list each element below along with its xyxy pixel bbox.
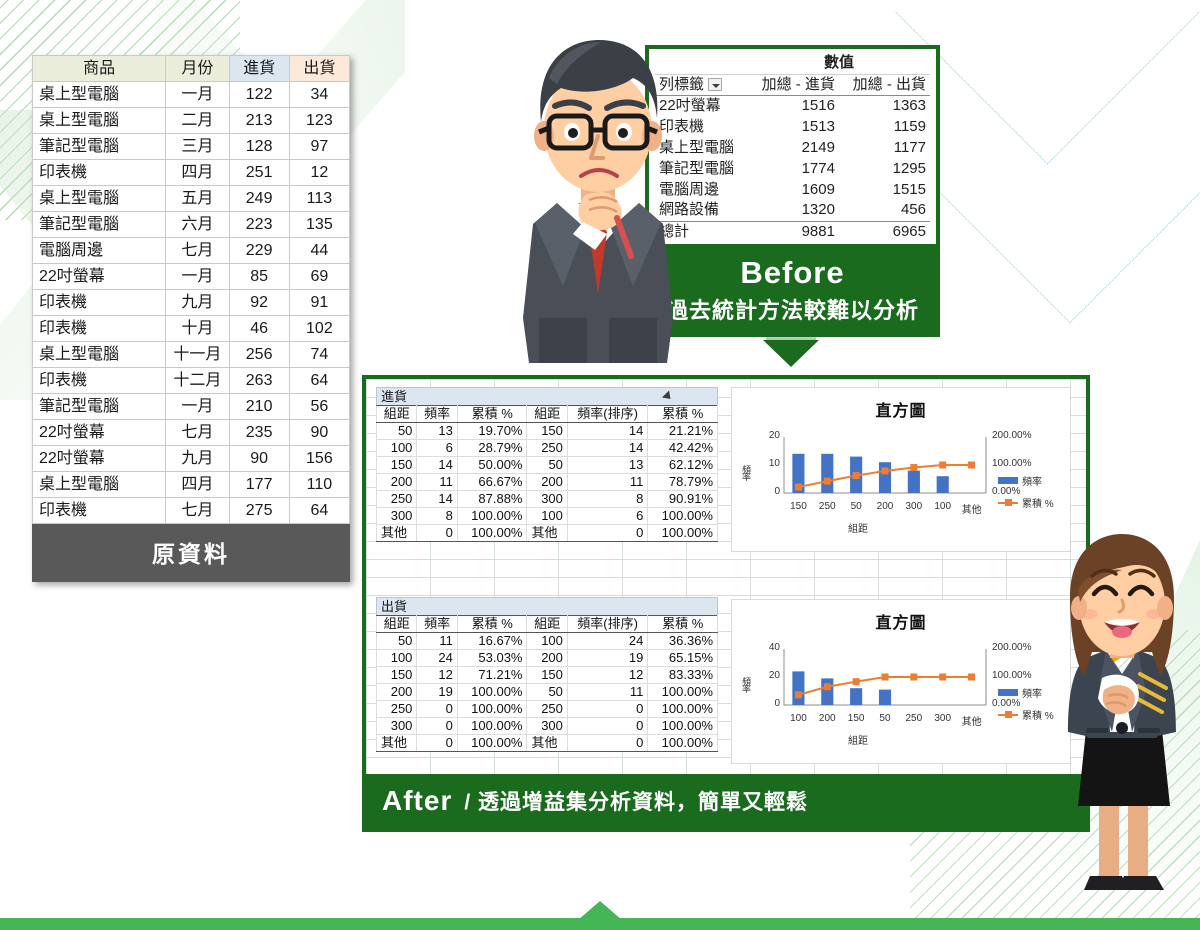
- freq-table-cell: 12: [567, 667, 647, 684]
- raw-cell-outbound: 74: [289, 342, 349, 368]
- before-subtitle: 過去統計方法較難以分析: [649, 293, 936, 325]
- freq-table-cell: 150: [527, 423, 567, 440]
- chart-x-tick: 300: [928, 713, 957, 724]
- raw-cell-outbound: 135: [289, 212, 349, 238]
- chart-title-inbound: 直方圖: [732, 397, 1070, 421]
- chart-x-tick: 250: [899, 713, 928, 724]
- raw-cell-inbound: 46: [229, 316, 289, 342]
- bottom-peak-triangle: [578, 901, 622, 920]
- raw-data-row: 桌上型電腦一月12234: [33, 82, 350, 108]
- freq-table-cell: 13: [567, 457, 647, 474]
- businesswoman-character: [1042, 532, 1200, 914]
- pivot-value-header-row: 數值: [655, 53, 930, 74]
- pivot-total-row: 總計98816965: [655, 221, 930, 242]
- freq-table-cell: 100: [377, 440, 417, 457]
- pivot-total-value: 6965: [839, 221, 930, 242]
- pivot-row: 網路設備1320456: [655, 200, 930, 221]
- raw-cell-product: 桌上型電腦: [33, 108, 166, 134]
- chart-x-tick: 200: [871, 501, 900, 512]
- raw-cell-outbound: 123: [289, 108, 349, 134]
- sort-marker-icon[interactable]: [662, 390, 674, 402]
- freq-header-row-inbound: 組距頻率累積 %組距頻率(排序)累積 %: [377, 406, 718, 423]
- raw-cell-product: 筆記型電腦: [33, 394, 166, 420]
- raw-cell-product: 筆記型電腦: [33, 134, 166, 160]
- freq-table-cell: 200: [377, 684, 417, 701]
- freq-table-cell: 100.00%: [457, 508, 527, 525]
- pivot-cell-value: 1774: [748, 158, 839, 179]
- raw-data-row: 印表機十月46102: [33, 316, 350, 342]
- raw-cell-month: 九月: [166, 446, 229, 472]
- freq-table-title-outbound: 出貨: [376, 597, 718, 615]
- freq-table-outbound: 組距頻率累積 %組距頻率(排序)累積 % 501116.67%1002436.3…: [376, 615, 718, 752]
- pivot-cell-value: 456: [839, 200, 930, 221]
- raw-cell-product: 桌上型電腦: [33, 472, 166, 498]
- after-title: After: [382, 785, 452, 817]
- chart-y-tick-right: 100.00%: [992, 458, 1050, 469]
- raw-data-table: 商品 月份 進貨 出貨 桌上型電腦一月12234桌上型電腦二月213123筆記型…: [32, 55, 350, 524]
- down-arrow-icon: [763, 340, 819, 367]
- raw-cell-product: 印表機: [33, 316, 166, 342]
- chart-line-marker: [795, 691, 802, 698]
- freq-table-cell: 200: [527, 650, 567, 667]
- raw-cell-outbound: 64: [289, 498, 349, 524]
- freq-body-outbound: 501116.67%1002436.36%1002453.03%2001965.…: [377, 633, 718, 752]
- businessman-character: [505, 18, 690, 363]
- pivot-row: 筆記型電腦17741295: [655, 158, 930, 179]
- freq-col-header: 頻率: [417, 406, 457, 423]
- legend-swatch-bar: [998, 689, 1018, 696]
- freq-table-cell: 87.88%: [457, 491, 527, 508]
- raw-cell-inbound: 122: [229, 82, 289, 108]
- pivot-cell-value: 2149: [748, 137, 839, 158]
- pivot-value-header-label: 數值: [824, 54, 854, 71]
- raw-cell-outbound: 110: [289, 472, 349, 498]
- freq-table-title-inbound: 進貨: [376, 387, 718, 405]
- raw-header-inbound: 進貨: [229, 56, 289, 82]
- freq-table-cell: 11: [567, 684, 647, 701]
- freq-table-row: 100628.79%2501442.42%: [377, 440, 718, 457]
- raw-cell-month: 十二月: [166, 368, 229, 394]
- chart-x-tick: 50: [842, 501, 871, 512]
- raw-data-row: 筆記型電腦一月21056: [33, 394, 350, 420]
- freq-col-header: 組距: [377, 406, 417, 423]
- freq-table-cell: 12: [417, 667, 457, 684]
- freq-table-cell: 50: [527, 684, 567, 701]
- chart-bar: [821, 454, 833, 493]
- pivot-cell-value: 1609: [748, 179, 839, 200]
- raw-data-caption: 原資料: [32, 524, 350, 582]
- legend-label-frequency: 頻率: [1022, 473, 1042, 488]
- raw-cell-product: 印表機: [33, 160, 166, 186]
- chart-x-tick: 50: [871, 713, 900, 724]
- freq-col-header: 頻率: [417, 616, 457, 633]
- freq-table-cell: 300: [527, 718, 567, 735]
- freq-col-header: 累積 %: [648, 616, 718, 633]
- raw-cell-inbound: 229: [229, 238, 289, 264]
- raw-data-row: 22吋螢幕九月90156: [33, 446, 350, 472]
- chart-line-marker: [968, 674, 975, 681]
- freq-table-cell: 11: [417, 474, 457, 491]
- freq-table-cell: 其他: [527, 525, 567, 542]
- raw-cell-outbound: 64: [289, 368, 349, 394]
- chart-line-marker: [824, 683, 831, 690]
- pivot-cell-value: 1515: [839, 179, 930, 200]
- histogram-chart-outbound: 直方圖 020400.00%100.00%200.00%頻率1002001505…: [731, 599, 1071, 764]
- legend-label-frequency: 頻率: [1022, 685, 1042, 700]
- freq-table-cell: 21.21%: [648, 423, 718, 440]
- freq-table-row: 3000100.00%3000100.00%: [377, 718, 718, 735]
- freq-table-cell: 150: [377, 667, 417, 684]
- chart-line-marker: [853, 678, 860, 685]
- freq-body-inbound: 501319.70%1501421.21%100628.79%2501442.4…: [377, 423, 718, 542]
- chart-x-tick: 100: [784, 713, 813, 724]
- freq-table-cell: 66.67%: [457, 474, 527, 491]
- raw-cell-month: 七月: [166, 498, 229, 524]
- freq-table-block-outbound: 出貨 組距頻率累積 %組距頻率(排序)累積 % 501116.67%100243…: [376, 597, 718, 752]
- freq-table-cell: 100.00%: [457, 525, 527, 542]
- raw-cell-month: 十一月: [166, 342, 229, 368]
- chart-y-tick-left: 40: [748, 642, 780, 653]
- raw-cell-outbound: 91: [289, 290, 349, 316]
- freq-col-header: 組距: [527, 406, 567, 423]
- freq-table-cell: 100: [377, 650, 417, 667]
- freq-table-cell: 150: [377, 457, 417, 474]
- raw-header-month: 月份: [166, 56, 229, 82]
- freq-table-row: 2501487.88%300890.91%: [377, 491, 718, 508]
- pivot-table: 數值 列標籤 加總 - 進貨 加總 - 出貨 22吋螢幕15161363印表機1…: [655, 53, 930, 242]
- chart-bar: [821, 678, 833, 705]
- legend-swatch-line: [998, 502, 1018, 504]
- freq-table-cell: 65.15%: [648, 650, 718, 667]
- raw-data-row: 印表機九月9291: [33, 290, 350, 316]
- freq-table-row: 20019100.00%5011100.00%: [377, 684, 718, 701]
- raw-cell-outbound: 97: [289, 134, 349, 160]
- freq-table-row: 其他0100.00%其他0100.00%: [377, 735, 718, 752]
- chart-title-outbound: 直方圖: [732, 609, 1070, 633]
- freq-table-cell: 0: [567, 718, 647, 735]
- chart-line-marker: [939, 674, 946, 681]
- raw-cell-inbound: 85: [229, 264, 289, 290]
- freq-table-block-inbound: 進貨 組距頻率累積 %組距頻率(排序)累積 % 501319.70%150142…: [376, 387, 718, 542]
- raw-header-outbound: 出貨: [289, 56, 349, 82]
- pivot-row: 22吋螢幕15161363: [655, 95, 930, 116]
- freq-table-cell: 300: [527, 491, 567, 508]
- freq-table-cell: 90.91%: [648, 491, 718, 508]
- chart-plot-area-outbound: 020400.00%100.00%200.00%頻率10020015050250…: [732, 633, 1070, 751]
- freq-table-cell: 19: [417, 684, 457, 701]
- chart-line-marker: [939, 462, 946, 469]
- freq-table-cell: 50: [527, 457, 567, 474]
- freq-table-cell: 0: [417, 525, 457, 542]
- raw-cell-product: 桌上型電腦: [33, 342, 166, 368]
- freq-table-row: 1002453.03%2001965.15%: [377, 650, 718, 667]
- freq-table-cell: 6: [567, 508, 647, 525]
- freq-table-cell: 50: [377, 633, 417, 650]
- pivot-value-header: 數值: [748, 53, 930, 74]
- chevron-outline-inner: [895, 0, 1199, 165]
- freq-table-cell: 6: [417, 440, 457, 457]
- raw-cell-product: 22吋螢幕: [33, 420, 166, 446]
- raw-cell-month: 六月: [166, 212, 229, 238]
- freq-table-row: 2001166.67%2001178.79%: [377, 474, 718, 491]
- raw-cell-outbound: 113: [289, 186, 349, 212]
- freq-table-cell: 62.12%: [648, 457, 718, 474]
- pivot-cell-value: 1513: [748, 116, 839, 137]
- chart-legend-frequency: 頻率: [998, 473, 1042, 488]
- freq-table-cell: 300: [377, 718, 417, 735]
- raw-cell-outbound: 44: [289, 238, 349, 264]
- freq-col-header: 組距: [527, 616, 567, 633]
- pivot-col-header-outbound: 加總 - 出貨: [839, 74, 930, 95]
- raw-cell-product: 22吋螢幕: [33, 446, 166, 472]
- raw-cell-month: 七月: [166, 238, 229, 264]
- pivot-column-header-row: 列標籤 加總 - 進貨 加總 - 出貨: [655, 74, 930, 95]
- freq-table-cell: 0: [567, 701, 647, 718]
- freq-table-cell: 14: [417, 457, 457, 474]
- freq-table-cell: 14: [417, 491, 457, 508]
- chart-x-axis-title: 組距: [732, 732, 1070, 747]
- freq-table-cell: 42.42%: [648, 440, 718, 457]
- raw-cell-inbound: 213: [229, 108, 289, 134]
- chart-y-tick-right: 200.00%: [992, 430, 1050, 441]
- raw-data-row: 筆記型電腦六月223135: [33, 212, 350, 238]
- freq-table-cell: 150: [527, 667, 567, 684]
- freq-table-row: 1501450.00%501362.12%: [377, 457, 718, 474]
- freq-table-cell: 200: [377, 474, 417, 491]
- raw-cell-outbound: 12: [289, 160, 349, 186]
- chart-y-axis-title: 頻率: [740, 465, 753, 479]
- raw-cell-inbound: 177: [229, 472, 289, 498]
- raw-cell-month: 四月: [166, 160, 229, 186]
- freq-table-row: 其他0100.00%其他0100.00%: [377, 525, 718, 542]
- pivot-cell-value: 1320: [748, 200, 839, 221]
- raw-data-card: 商品 月份 進貨 出貨 桌上型電腦一月12234桌上型電腦二月213123筆記型…: [32, 55, 350, 582]
- freq-table-inbound: 組距頻率累積 %組距頻率(排序)累積 % 501319.70%1501421.2…: [376, 405, 718, 542]
- freq-table-cell: 250: [527, 701, 567, 718]
- pivot-col-header-inbound: 加總 - 進貨: [748, 74, 839, 95]
- chart-y-axis-title: 頻率: [740, 677, 753, 691]
- freq-table-cell: 71.21%: [457, 667, 527, 684]
- freq-table-cell: 50: [377, 423, 417, 440]
- pivot-cell-value: 1363: [839, 95, 930, 116]
- freq-header-row-outbound: 組距頻率累積 %組距頻率(排序)累積 %: [377, 616, 718, 633]
- freq-table-cell: 0: [417, 735, 457, 752]
- chart-line-marker: [882, 674, 889, 681]
- freq-table-cell: 100.00%: [648, 508, 718, 525]
- raw-cell-product: 印表機: [33, 498, 166, 524]
- freq-table-cell: 14: [567, 440, 647, 457]
- chart-x-tick: 其他: [957, 713, 986, 728]
- raw-data-body: 桌上型電腦一月12234桌上型電腦二月213123筆記型電腦三月12897印表機…: [33, 82, 350, 524]
- raw-cell-month: 五月: [166, 186, 229, 212]
- raw-cell-outbound: 56: [289, 394, 349, 420]
- freq-table-title-label-outbound: 出貨: [381, 599, 407, 614]
- pivot-cell-value: 1159: [839, 116, 930, 137]
- after-subtitle: / 透過增益集分析資料，簡單又輕鬆: [464, 786, 808, 816]
- pivot-cell-value: 1295: [839, 158, 930, 179]
- legend-label-cumulative: 累積 %: [1022, 495, 1054, 510]
- raw-cell-inbound: 128: [229, 134, 289, 160]
- freq-table-cell: 0: [417, 718, 457, 735]
- chart-line-marker: [795, 484, 802, 491]
- raw-cell-product: 22吋螢幕: [33, 264, 166, 290]
- freq-table-row: 3008100.00%1006100.00%: [377, 508, 718, 525]
- raw-cell-inbound: 92: [229, 290, 289, 316]
- pivot-row: 印表機15131159: [655, 116, 930, 137]
- raw-cell-month: 三月: [166, 134, 229, 160]
- chart-y-tick-left: 0: [748, 486, 780, 497]
- raw-cell-inbound: 275: [229, 498, 289, 524]
- raw-data-row: 22吋螢幕七月23590: [33, 420, 350, 446]
- freq-table-cell: 28.79%: [457, 440, 527, 457]
- chart-x-axis-title: 組距: [732, 520, 1070, 535]
- raw-cell-month: 二月: [166, 108, 229, 134]
- raw-cell-outbound: 69: [289, 264, 349, 290]
- chart-x-tick: 其他: [957, 501, 986, 516]
- freq-table-row: 2500100.00%2500100.00%: [377, 701, 718, 718]
- raw-cell-month: 一月: [166, 264, 229, 290]
- freq-table-cell: 36.36%: [648, 633, 718, 650]
- chart-y-tick-left: 20: [748, 430, 780, 441]
- chart-plot-area-inbound: 010200.00%100.00%200.00%頻率15025050200300…: [732, 421, 1070, 539]
- raw-cell-outbound: 156: [289, 446, 349, 472]
- chart-x-tick: 300: [899, 501, 928, 512]
- raw-cell-month: 一月: [166, 82, 229, 108]
- chart-bar: [879, 690, 891, 705]
- freq-table-row: 501116.67%1002436.36%: [377, 633, 718, 650]
- freq-col-header: 累積 %: [648, 406, 718, 423]
- raw-data-row: 桌上型電腦四月177110: [33, 472, 350, 498]
- freq-table-cell: 其他: [377, 525, 417, 542]
- freq-table-cell: 11: [567, 474, 647, 491]
- raw-cell-month: 十月: [166, 316, 229, 342]
- freq-col-header: 組距: [377, 616, 417, 633]
- freq-table-cell: 83.33%: [648, 667, 718, 684]
- freq-table-cell: 24: [417, 650, 457, 667]
- freq-table-cell: 100.00%: [648, 684, 718, 701]
- raw-data-row: 電腦周邊七月22944: [33, 238, 350, 264]
- chart-line-marker: [853, 472, 860, 479]
- freq-table-cell: 250: [527, 440, 567, 457]
- raw-cell-product: 電腦周邊: [33, 238, 166, 264]
- chart-x-tick: 200: [813, 713, 842, 724]
- chart-bar: [937, 476, 949, 493]
- chart-bar: [908, 471, 920, 493]
- freq-table-row: 501319.70%1501421.21%: [377, 423, 718, 440]
- raw-cell-outbound: 34: [289, 82, 349, 108]
- freq-table-cell: 13: [417, 423, 457, 440]
- freq-table-cell: 250: [377, 701, 417, 718]
- freq-table-cell: 24: [567, 633, 647, 650]
- chart-line-marker: [882, 467, 889, 474]
- freq-table-cell: 100.00%: [457, 718, 527, 735]
- infographic-page: 商品 月份 進貨 出貨 桌上型電腦一月12234桌上型電腦二月213123筆記型…: [0, 0, 1200, 930]
- freq-table-cell: 100.00%: [648, 735, 718, 752]
- chart-line-marker: [910, 464, 917, 471]
- after-section: 進貨 組距頻率累積 %組距頻率(排序)累積 % 501319.70%150142…: [362, 375, 1090, 832]
- pivot-cell-value: 1516: [748, 95, 839, 116]
- freq-table-cell: 300: [377, 508, 417, 525]
- filter-dropdown-icon[interactable]: [708, 78, 722, 91]
- chart-y-tick-left: 0: [748, 698, 780, 709]
- raw-data-row: 印表機四月25112: [33, 160, 350, 186]
- pivot-row: 桌上型電腦21491177: [655, 137, 930, 158]
- freq-col-header: 累積 %: [457, 616, 527, 633]
- freq-table-title-label-inbound: 進貨: [381, 389, 407, 404]
- raw-cell-outbound: 102: [289, 316, 349, 342]
- raw-data-row: 桌上型電腦二月213123: [33, 108, 350, 134]
- raw-cell-product: 筆記型電腦: [33, 212, 166, 238]
- raw-data-row: 印表機十二月26364: [33, 368, 350, 394]
- raw-cell-inbound: 263: [229, 368, 289, 394]
- chart-line-marker: [824, 478, 831, 485]
- raw-cell-month: 七月: [166, 420, 229, 446]
- after-banner: After / 透過增益集分析資料，簡單又輕鬆: [366, 774, 1086, 828]
- freq-table-cell: 14: [567, 423, 647, 440]
- freq-table-cell: 250: [377, 491, 417, 508]
- freq-table-cell: 100.00%: [457, 684, 527, 701]
- raw-data-row: 22吋螢幕一月8569: [33, 264, 350, 290]
- freq-table-cell: 100.00%: [457, 701, 527, 718]
- pivot-total-row-wrap: 總計98816965: [655, 221, 930, 242]
- chart-line-marker: [910, 674, 917, 681]
- pivot-total-value: 9881: [748, 221, 839, 242]
- before-title: Before: [649, 254, 936, 291]
- freq-table-cell: 200: [527, 474, 567, 491]
- raw-data-row: 印表機七月27564: [33, 498, 350, 524]
- freq-table-cell: 其他: [527, 735, 567, 752]
- bottom-green-bar: [0, 918, 1200, 930]
- freq-col-header: 頻率(排序): [567, 616, 647, 633]
- raw-cell-month: 四月: [166, 472, 229, 498]
- freq-table-cell: 0: [417, 701, 457, 718]
- legend-swatch-line: [998, 714, 1018, 716]
- freq-table-cell: 8: [417, 508, 457, 525]
- raw-header-product: 商品: [33, 56, 166, 82]
- raw-cell-product: 桌上型電腦: [33, 82, 166, 108]
- chart-bar: [850, 688, 862, 705]
- legend-swatch-bar: [998, 477, 1018, 484]
- raw-data-header-row: 商品 月份 進貨 出貨: [33, 56, 350, 82]
- freq-table-cell: 50.00%: [457, 457, 527, 474]
- freq-col-header: 累積 %: [457, 406, 527, 423]
- freq-table-cell: 53.03%: [457, 650, 527, 667]
- chart-bar: [879, 462, 891, 493]
- raw-cell-product: 桌上型電腦: [33, 186, 166, 212]
- freq-table-cell: 19: [567, 650, 647, 667]
- pivot-cell-value: 1177: [839, 137, 930, 158]
- freq-table-cell: 78.79%: [648, 474, 718, 491]
- raw-cell-inbound: 251: [229, 160, 289, 186]
- chart-legend-frequency: 頻率: [998, 685, 1042, 700]
- raw-data-row: 桌上型電腦五月249113: [33, 186, 350, 212]
- freq-table-cell: 100: [527, 633, 567, 650]
- chart-x-tick: 250: [813, 501, 842, 512]
- histogram-chart-inbound: 直方圖 010200.00%100.00%200.00%頻率1502505020…: [731, 387, 1071, 552]
- freq-table-cell: 16.67%: [457, 633, 527, 650]
- freq-table-cell: 其他: [377, 735, 417, 752]
- raw-data-row: 桌上型電腦十一月25674: [33, 342, 350, 368]
- chart-x-tick: 100: [928, 501, 957, 512]
- freq-table-cell: 19.70%: [457, 423, 527, 440]
- raw-cell-month: 九月: [166, 290, 229, 316]
- freq-col-header: 頻率(排序): [567, 406, 647, 423]
- chart-bar: [792, 671, 804, 705]
- raw-cell-inbound: 223: [229, 212, 289, 238]
- chart-legend-cumulative: 累積 %: [998, 495, 1054, 510]
- raw-cell-inbound: 235: [229, 420, 289, 446]
- raw-cell-inbound: 90: [229, 446, 289, 472]
